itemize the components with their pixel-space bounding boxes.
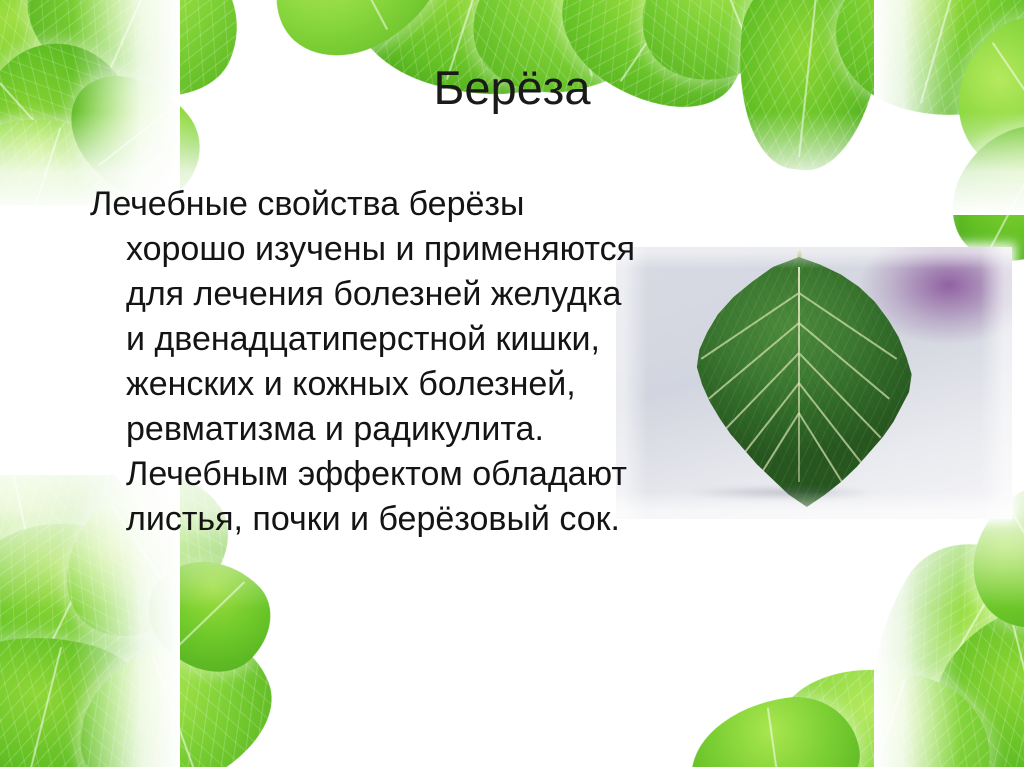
mint-leaf-decor: [682, 689, 867, 767]
mint-leaf-decor: [55, 612, 293, 767]
leaf-vein-texture: [830, 515, 1024, 767]
page-title: Берёза: [0, 63, 1024, 112]
birch-leaf-photo: [616, 247, 1012, 519]
mint-leaf-decor: [129, 534, 291, 697]
slide: Берёза Лечебные свойства берёзы хорошо и…: [0, 0, 1024, 767]
photo-edge-fade: [616, 247, 1012, 519]
mint-leaf-decor: [912, 586, 1024, 767]
mint-leaf-decor: [758, 638, 1010, 767]
leaf-vein-texture: [0, 610, 175, 767]
mint-leaf-decor: [830, 515, 1024, 767]
leaf-vein-texture: [758, 638, 1010, 767]
leaf-vein-texture: [55, 612, 293, 767]
body-paragraph: Лечебные свойства берёзы хорошо изучены …: [90, 182, 638, 542]
mint-leaf-decor: [0, 610, 175, 767]
leaf-vein-texture: [912, 586, 1024, 767]
